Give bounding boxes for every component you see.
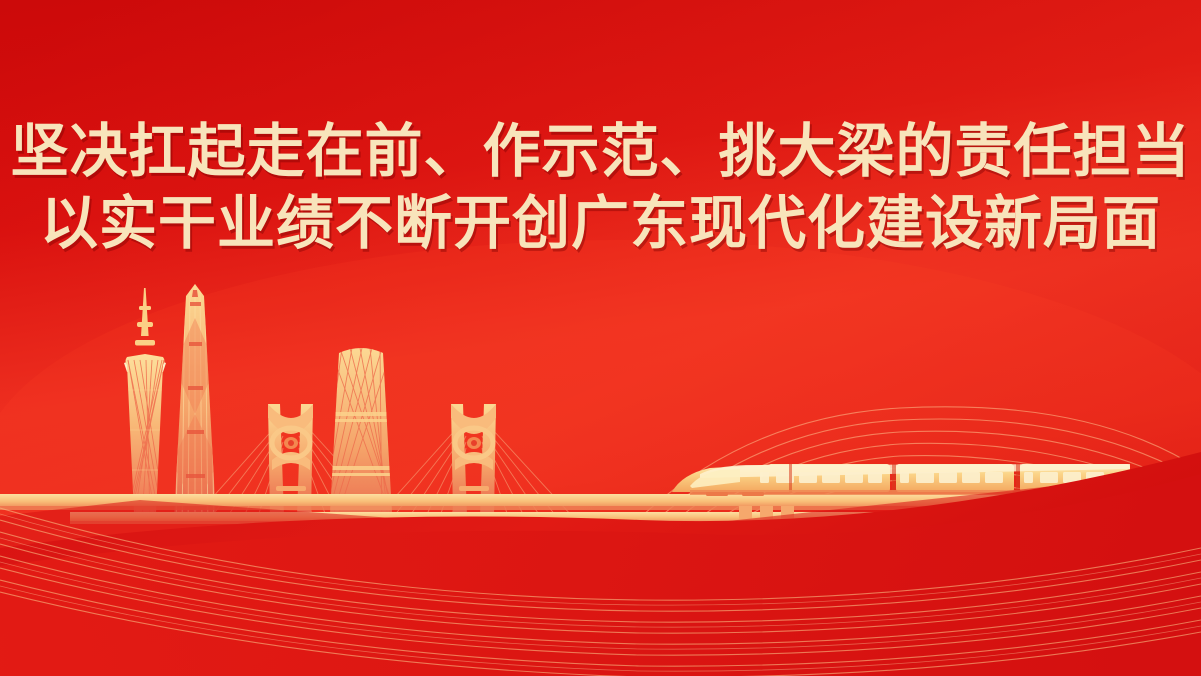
poster-canvas: 坚决扛起走在前、作示范、挑大梁的责任担当 以实干业绩不断开创广东现代化建设新局面 [0, 0, 1201, 676]
foreground-layer [0, 0, 1201, 676]
